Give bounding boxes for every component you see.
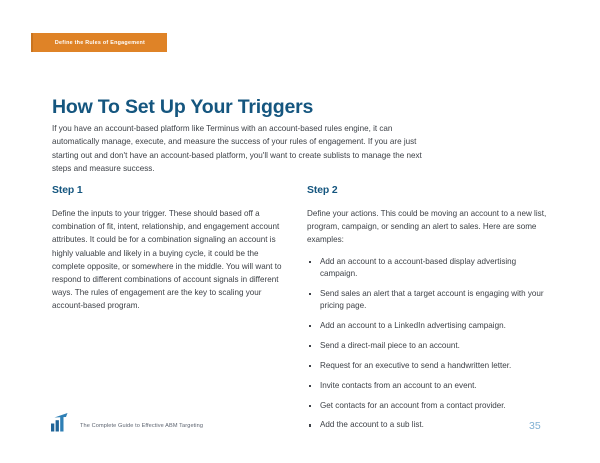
page-number: 35 [529,420,541,432]
step-2-bullet-item: Send a direct-mail piece to an account. [307,340,555,352]
step-2-bullet-item: Invite contacts from an account to an ev… [307,380,555,392]
document-page: Define the Rules of Engagement How To Se… [0,0,600,463]
step-2-bullet-item: Get contacts for an account from a conta… [307,400,555,412]
step-2-bullet-item: Send sales an alert that a target accoun… [307,288,555,313]
section-tab-label: Define the Rules of Engagement [55,40,145,46]
page-title: How To Set Up Your Triggers [52,96,313,119]
column-step-2: Step 2 Define your actions. This could b… [307,185,555,439]
intro-paragraph: If you have an account-based platform li… [52,122,424,175]
step-2-heading: Step 2 [307,185,555,196]
step-2-body: Define your actions. This could be movin… [307,207,555,247]
step-2-bullet-item: Add the account to a sub list. [307,419,555,431]
step-1-body: Define the inputs to your trigger. These… [52,207,284,313]
step-1-heading: Step 1 [52,185,284,196]
step-2-bullet-item: Add an account to a account-based displa… [307,256,555,281]
column-step-1: Step 1 Define the inputs to your trigger… [52,185,284,313]
section-tab: Define the Rules of Engagement [31,33,167,52]
step-2-bullet-list: Add an account to a account-based displa… [307,256,555,432]
step-2-bullet-item: Add an account to a LinkedIn advertising… [307,320,555,332]
footer-guide-title: The Complete Guide to Effective ABM Targ… [80,423,203,429]
footer-logo-icon [47,412,73,438]
step-2-bullet-item: Request for an executive to send a handw… [307,360,555,372]
